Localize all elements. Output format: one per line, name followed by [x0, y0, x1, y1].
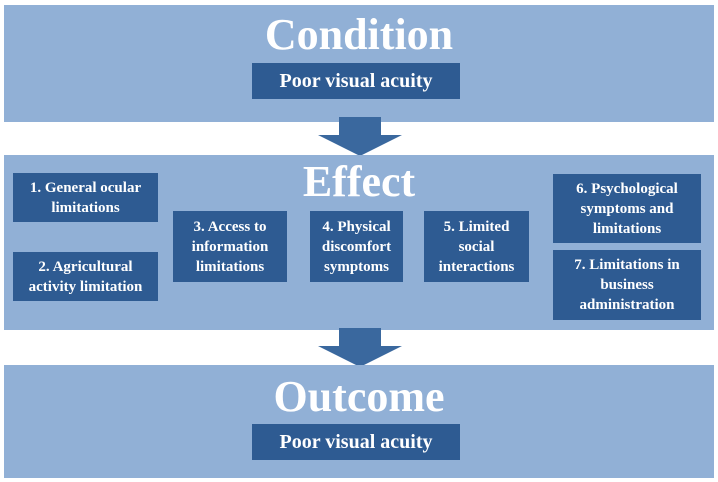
condition-heading: Condition [0, 10, 718, 60]
arrow-down-effect-to-outcome [315, 328, 405, 368]
condition-poor-visual-acuity-box: Poor visual acuity [252, 63, 460, 99]
effect-box-limitations-in-business-administration: 7. Limitations in business administratio… [553, 250, 701, 320]
arrow-down-condition-to-effect [315, 117, 405, 157]
outcome-poor-visual-acuity-box: Poor visual acuity [252, 424, 460, 460]
outcome-heading: Outcome [0, 372, 718, 422]
condition-effect-outcome-diagram: Condition Poor visual acuity Effect 1. G… [0, 0, 718, 482]
effect-box-physical-discomfort-symptoms: 4. Physical discomfort symptoms [310, 211, 403, 282]
effect-box-psychological-symptoms-and-limitations: 6. Psychological symptoms and limitation… [553, 174, 701, 243]
effect-box-access-to-information-limitations: 3. Access to information limitations [173, 211, 287, 282]
effect-box-general-ocular-limitations: 1. General ocular limitations [13, 173, 158, 222]
effect-box-agricultural-activity-limitation: 2. Agricultural activity limitation [13, 252, 158, 301]
effect-box-limited-social-interactions: 5. Limited social interactions [424, 211, 529, 282]
